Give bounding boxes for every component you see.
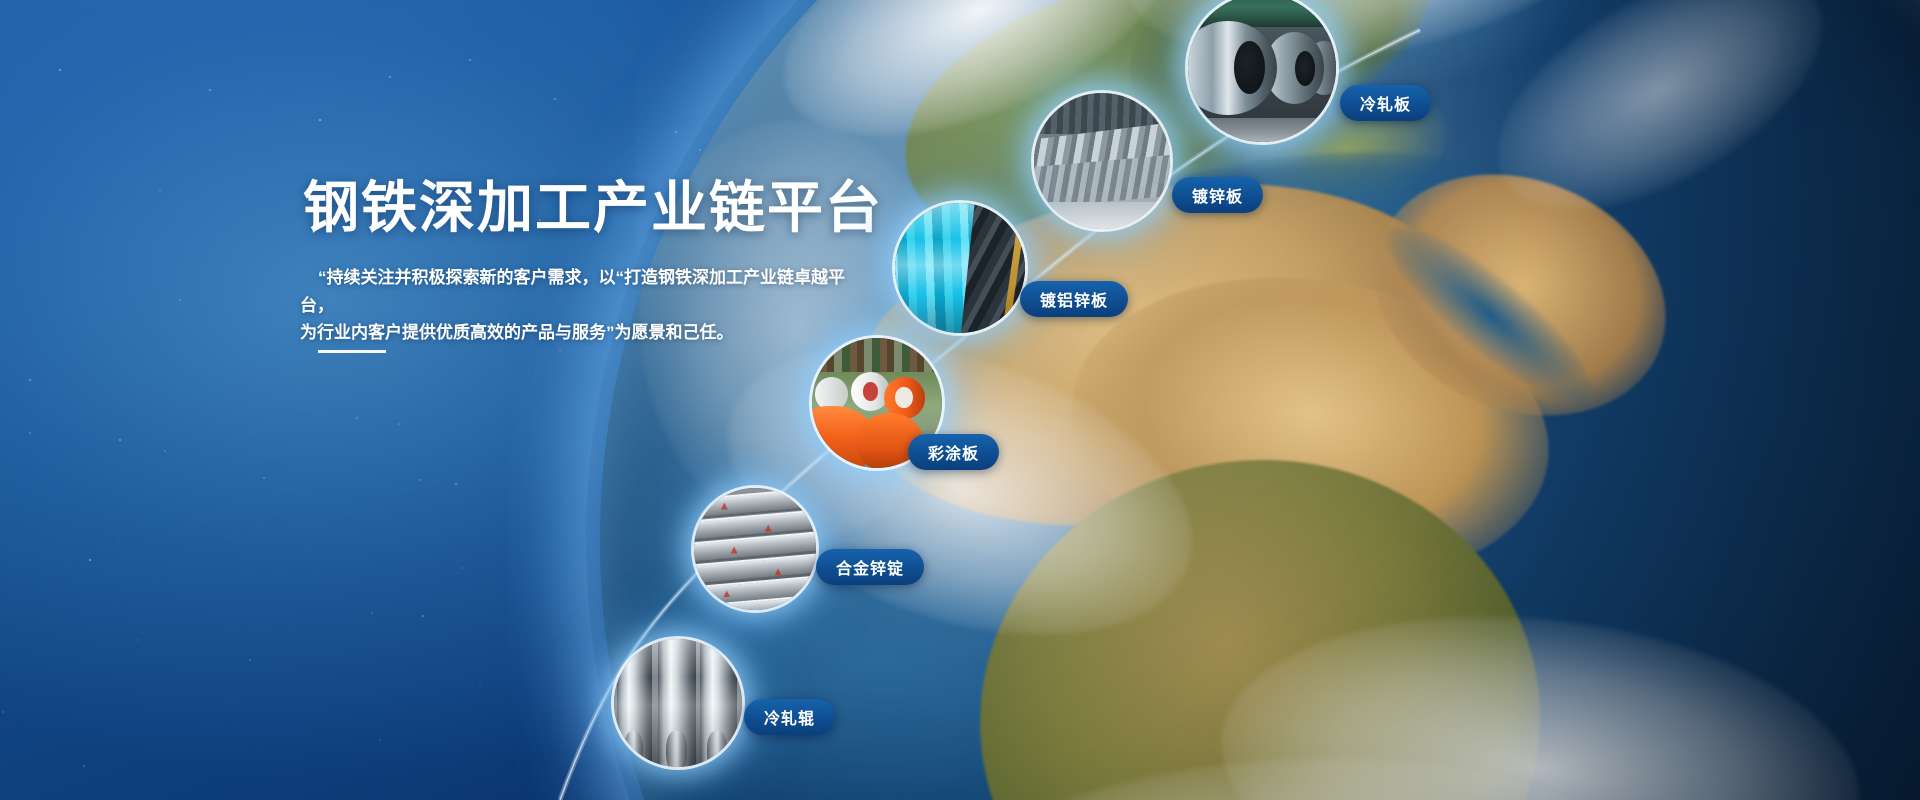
subtitle-line-1: “持续关注并积极探索新的客户需求，以“打造钢铁深加工产业链卓越平台， bbox=[300, 264, 870, 319]
rolling-roll-artwork bbox=[614, 639, 742, 767]
product-label-aluzinc-plate[interactable]: 镀铝锌板 bbox=[1020, 281, 1128, 317]
product-label-cold-rolled-plate[interactable]: 冷轧板 bbox=[1340, 85, 1431, 121]
cloud-5 bbox=[1459, 0, 1861, 258]
hero-subtitle: “持续关注并积极探索新的客户需求，以“打造钢铁深加工产业链卓越平台， 为行业内客… bbox=[300, 264, 870, 347]
steel-coil-photo-icon[interactable] bbox=[1188, 0, 1336, 142]
rolling-roll-photo-icon[interactable] bbox=[614, 639, 742, 767]
coil-artwork bbox=[1188, 0, 1336, 142]
cloud-7 bbox=[890, 734, 1670, 800]
galvanized-warehouse-photo-icon[interactable] bbox=[1034, 93, 1170, 229]
product-label-color-coated-plate[interactable]: 彩涂板 bbox=[908, 434, 999, 470]
page-title: 钢铁深加工产业链平台 bbox=[303, 180, 883, 236]
hero-banner: 钢铁深加工产业链平台 “持续关注并积极探索新的客户需求，以“打造钢铁深加工产业链… bbox=[0, 0, 1920, 800]
aluzinc-coil-photo-icon[interactable] bbox=[895, 203, 1025, 333]
zinc-ingot-artwork bbox=[694, 488, 816, 610]
zinc-ingot-stack-photo-icon[interactable] bbox=[694, 488, 816, 610]
landmass-arabia bbox=[1338, 132, 1702, 458]
aluzinc-artwork bbox=[895, 203, 1025, 333]
cloud-4 bbox=[1206, 587, 1874, 800]
subtitle-line-2: 为行业内客户提供优质高效的产品与服务”为愿景和己任。 bbox=[300, 319, 870, 347]
landmass-africa bbox=[963, 441, 1558, 800]
red-sea bbox=[1368, 205, 1612, 426]
title-divider bbox=[318, 350, 386, 353]
product-label-zinc-alloy-ingot[interactable]: 合金锌锭 bbox=[816, 549, 924, 585]
landmass-north-africa bbox=[1051, 248, 1568, 612]
galvanized-artwork bbox=[1034, 93, 1170, 229]
product-label-cold-rolling-roll[interactable]: 冷轧辊 bbox=[744, 699, 835, 735]
product-label-galvanized-plate[interactable]: 镀锌板 bbox=[1172, 177, 1263, 213]
